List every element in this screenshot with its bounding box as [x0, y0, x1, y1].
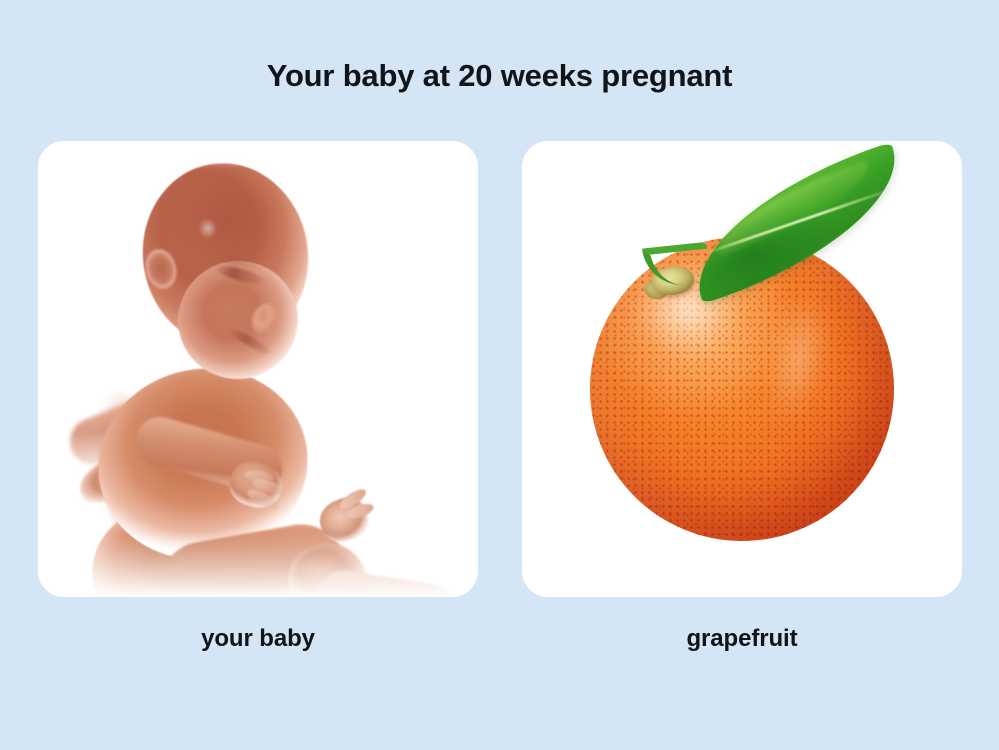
- grapefruit-illustration: [522, 141, 962, 597]
- page-title: Your baby at 20 weeks pregnant: [0, 58, 999, 94]
- comparison-cards: [38, 141, 962, 597]
- fetus-shin: [312, 566, 459, 597]
- baby-image-card: [38, 141, 478, 597]
- caption-baby: your baby: [38, 625, 478, 665]
- fetus-illustration: [38, 141, 478, 597]
- comparison-infographic: Your baby at 20 weeks pregnant: [0, 0, 999, 750]
- card-captions: your baby grapefruit: [38, 625, 962, 665]
- caption-grapefruit: grapefruit: [522, 625, 962, 665]
- grapefruit-image-card: [522, 141, 962, 597]
